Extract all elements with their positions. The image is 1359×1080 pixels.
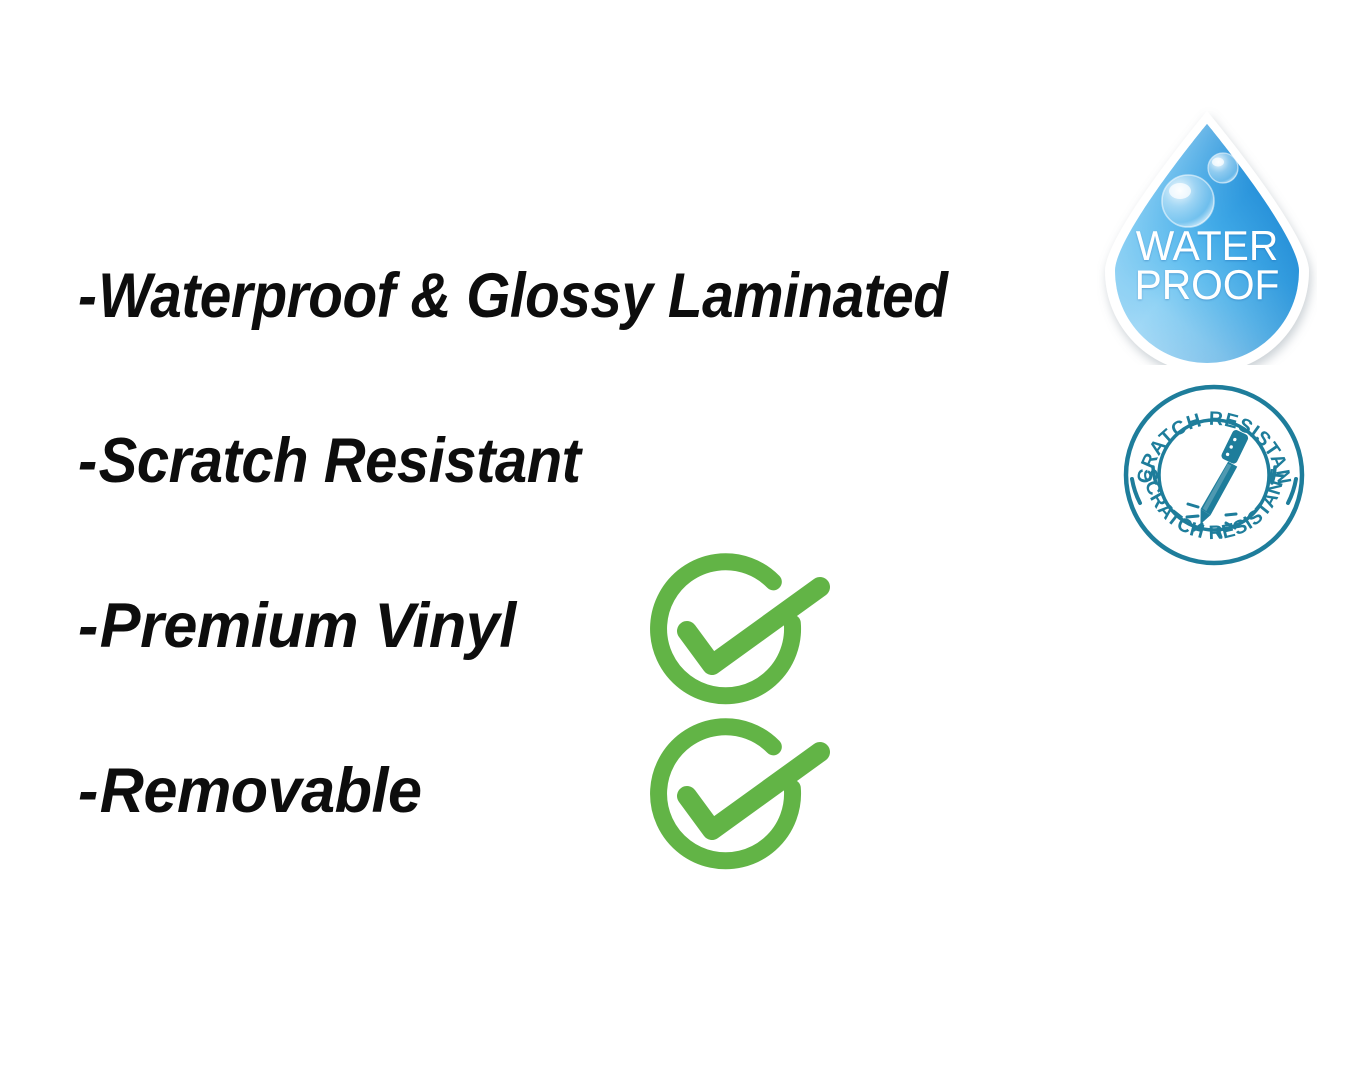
bubble-large-icon	[1162, 175, 1214, 227]
feature-bullet-dash: -	[78, 595, 98, 658]
feature-label: Scratch Resistant	[99, 426, 581, 496]
feature-bullet-dash: -	[78, 760, 98, 823]
bubble-small-highlight	[1212, 158, 1224, 167]
knife-blade-highlight	[1202, 460, 1231, 514]
feature-item-waterproof: -Waterproof & Glossy Laminated	[78, 265, 947, 328]
check-icon-premium-vinyl	[640, 553, 840, 713]
feature-list-canvas: -Waterproof & Glossy Laminated -Scratch …	[0, 0, 1359, 1080]
circle-check-icon	[640, 553, 840, 713]
bubble-large-highlight	[1169, 183, 1191, 199]
drop-body-sheen	[1115, 124, 1299, 363]
feature-label: Premium Vinyl	[100, 591, 516, 661]
knife-handle	[1220, 429, 1249, 465]
water-drop-icon	[1097, 105, 1317, 365]
feature-item-scratch-resistant: -Scratch Resistant	[78, 430, 581, 493]
stamp-dash-left-outer	[1132, 479, 1140, 503]
feature-label: Removable	[100, 756, 422, 826]
feature-label: Waterproof & Glossy Laminated	[98, 261, 947, 331]
bubble-small-icon	[1208, 153, 1238, 183]
feature-bullet-dash: -	[78, 430, 97, 493]
check-circle-ring	[648, 718, 803, 871]
check-icon-removable	[640, 718, 840, 878]
check-circle-ring	[648, 553, 803, 706]
waterproof-badge: WATER PROOF	[1097, 105, 1317, 365]
circle-check-icon	[640, 718, 840, 878]
scratch-resistant-badge: SCRATCH RESISTANT SCRATCH RESISTANT	[1122, 383, 1306, 567]
knife-stamp-icon: SCRATCH RESISTANT SCRATCH RESISTANT	[1122, 383, 1306, 567]
feature-bullet-dash: -	[78, 265, 96, 328]
feature-item-premium-vinyl: -Premium Vinyl	[78, 595, 516, 658]
feature-item-removable: -Removable	[78, 760, 422, 823]
